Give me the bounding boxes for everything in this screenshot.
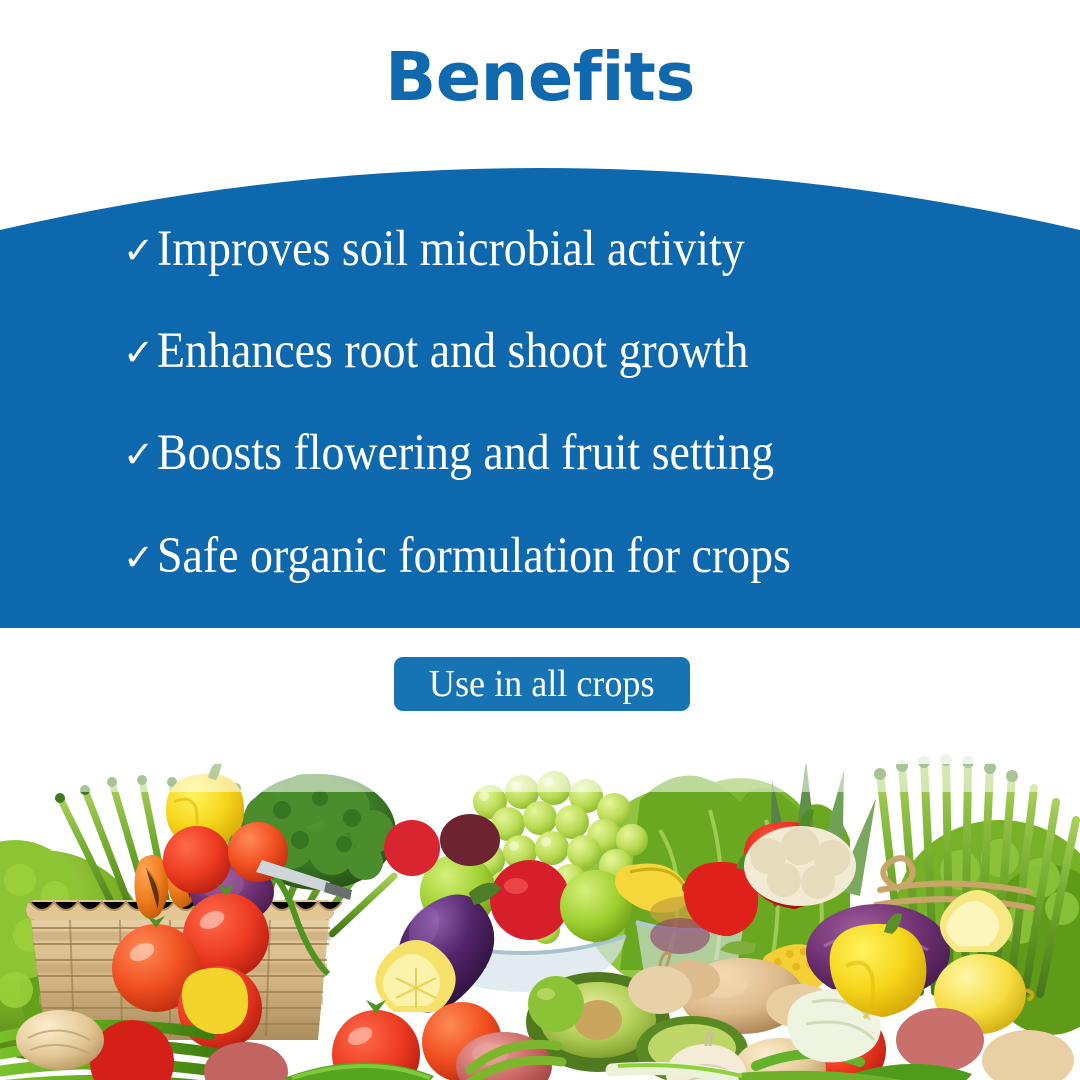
- benefits-list: ✓ Improves soil microbial activity ✓ Enh…: [0, 148, 1080, 628]
- list-item: ✓ Enhances root and shoot growth: [123, 326, 814, 377]
- plum: [440, 814, 500, 866]
- list-item: ✓ Boosts flowering and fruit setting: [123, 428, 843, 479]
- check-icon: ✓: [123, 539, 157, 576]
- benefit-label: Safe organic formulation for crops: [157, 531, 791, 582]
- benefits-poster: Benefits ✓ Improves soil microbial activ…: [0, 0, 1080, 1080]
- status-badge: Use in all crops: [394, 657, 690, 711]
- red-apple: [490, 860, 570, 940]
- benefits-panel: ✓ Improves soil microbial activity ✓ Enh…: [0, 148, 1080, 628]
- benefit-label: Improves soil microbial activity: [157, 224, 745, 275]
- lime-front: [528, 976, 584, 1032]
- status-badge-label: Use in all crops: [429, 665, 655, 703]
- red-apple-back: [384, 820, 440, 876]
- benefit-label: Enhances root and shoot growth: [157, 326, 748, 377]
- benefit-label: Boosts flowering and fruit setting: [157, 428, 774, 479]
- check-icon: ✓: [123, 334, 157, 371]
- list-item: ✓ Improves soil microbial activity: [123, 224, 810, 275]
- produce-photo: [0, 740, 1080, 1080]
- produce-illustration: [0, 740, 1080, 1080]
- list-item: ✓ Safe organic formulation for crops: [123, 531, 861, 582]
- check-icon: ✓: [123, 436, 157, 473]
- cauliflower: [744, 826, 856, 906]
- page-title: Benefits: [0, 44, 1080, 111]
- check-icon: ✓: [123, 232, 157, 269]
